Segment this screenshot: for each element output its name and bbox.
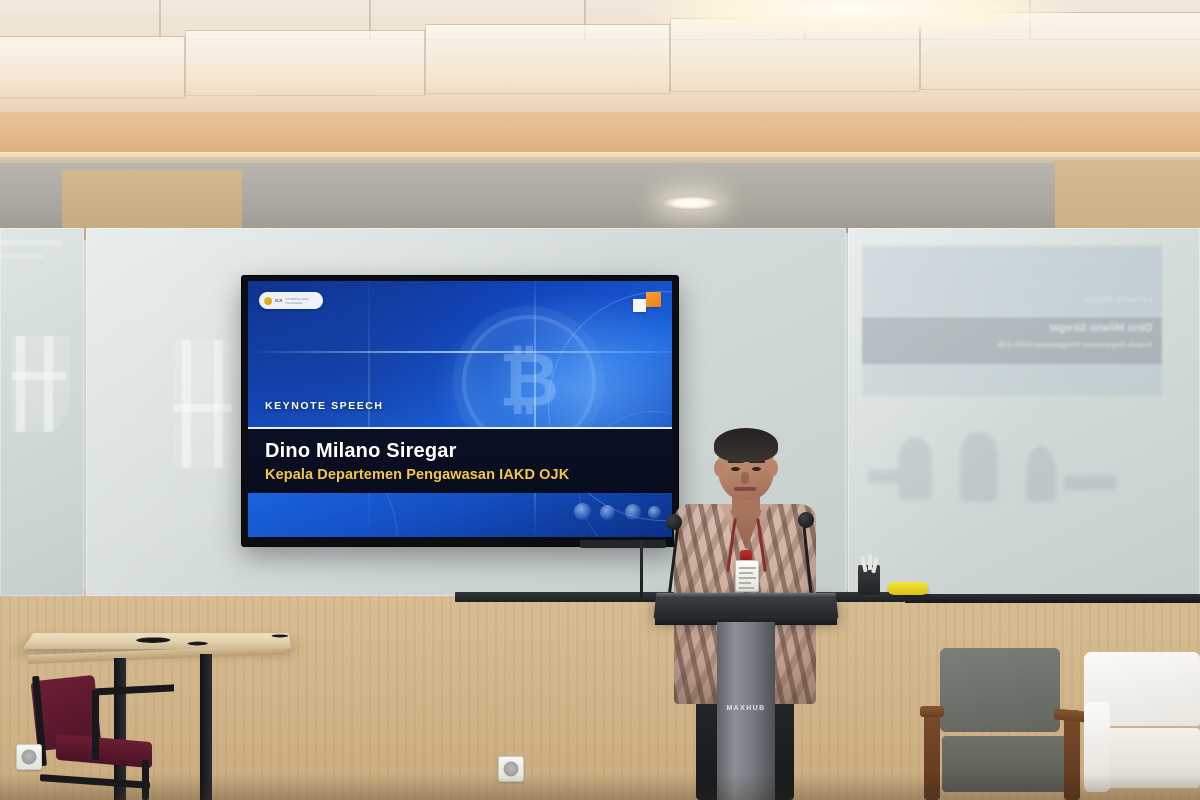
slide-screen: OJK OTORITAS JASA KEUANGAN KEYNOTE SPEEC… [248,281,672,537]
reflection-speaker-name: Dino Milano Siregar [1049,322,1152,334]
ojk-logo-text: OJK [275,298,282,303]
cable-grommet [187,642,208,646]
cable-grommet [135,637,170,643]
microphone-head-right [798,512,814,528]
chair-frame [92,690,99,760]
bokeh-dot [648,506,661,519]
bokeh-dot [625,504,641,520]
display-cable [640,540,643,598]
id-badge [735,560,759,592]
ceiling [0,0,1200,118]
slide-name-band: Dino Milano Siregar Kepala Departemen Pe… [248,427,672,493]
armchair-armrest-left [920,706,944,717]
slide-speaker-name: Dino Milano Siregar [265,440,457,463]
speaker-mouth [734,487,756,491]
audience-reflection [868,428,1128,538]
ojk-logo-subtext: OTORITAS JASA KEUANGAN [285,297,318,305]
decorative-square-orange-icon [646,292,661,307]
marker-holder[interactable] [858,565,880,595]
whiteboard-eraser[interactable] [888,582,928,595]
slide-reflection: KEYNOTE SPEECH Dino Milano Siregar Kepal… [862,246,1162,396]
presentation-display[interactable]: OJK OTORITAS JASA KEUANGAN KEYNOTE SPEEC… [242,276,678,546]
podium-brand-label: MAXHUB [717,700,775,716]
speaker-hair [714,428,778,462]
slide-speaker-title: Kepala Departemen Pengawasan IAKD OJK [265,467,569,483]
cable-grommet [271,634,288,637]
ojk-logo-mark-icon [264,297,272,305]
ojk-logo: OJK OTORITAS JASA KEUANGAN [259,292,323,309]
slide-kicker: KEYNOTE SPEECH [265,400,384,412]
podium-desk [654,593,839,619]
whiteboard-tray-right [905,594,1200,603]
floor-shadow [0,774,1200,800]
decorative-square-white-icon [633,299,646,312]
display-wall-mount [580,540,666,548]
glass-panel-left [0,228,84,596]
ceiling-light-panel [640,0,1070,36]
bokeh-dot [600,505,615,520]
bokeh-dot [574,503,591,520]
wall-outlet[interactable] [16,744,42,770]
glass-panel-right: KEYNOTE SPEECH Dino Milano Siregar Kepal… [848,228,1200,596]
downlight-icon [662,196,720,210]
microphone-head-left [666,514,682,530]
speaker-nose [741,472,749,484]
reflection-kicker: KEYNOTE SPEECH [1083,298,1152,304]
conference-room-scene: KEYNOTE SPEECH Dino Milano Siregar Kepal… [0,0,1200,800]
reflection-speaker-title: Kepala Departemen Pengawasan IAKD OJK [997,340,1152,349]
armchair-backrest [940,648,1060,732]
